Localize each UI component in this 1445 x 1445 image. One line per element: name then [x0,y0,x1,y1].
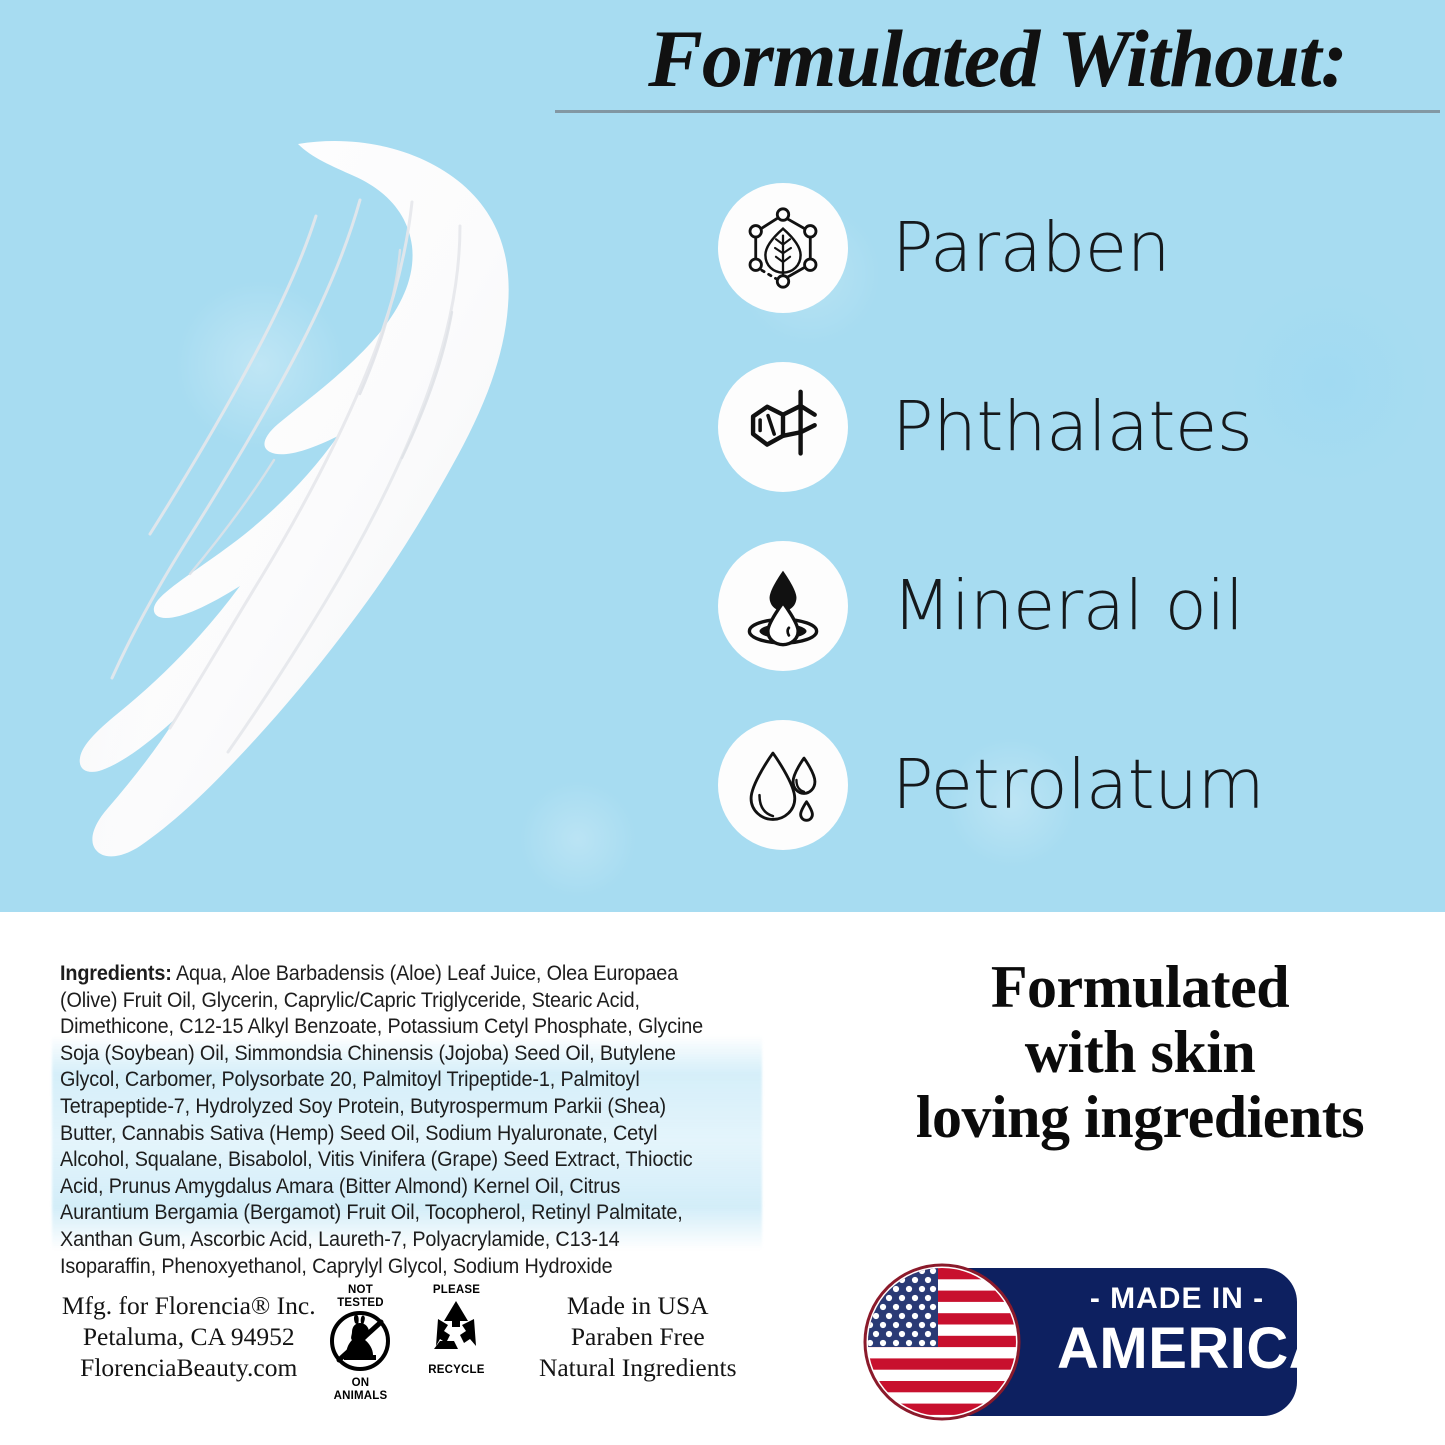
america-label: AMERICA [1057,1318,1297,1380]
ingredients-text: Ingredients: Aqua, Aloe Barbadensis (Alo… [60,960,711,1279]
free-from-row-petrolatum: Petrolatum [718,695,1438,874]
free-from-label: Paraben [892,210,1170,286]
skin-loving-headline: Formulated with skin loving ingredients [845,955,1435,1150]
benzene-ring-icon [718,362,848,492]
title-divider [555,110,1440,113]
oil-droplet-puddle-icon [718,541,848,671]
recycle-top-label: PLEASE [419,1284,493,1297]
molecule-leaf-icon [718,183,848,313]
skin-headline-line-2: with skin [845,1020,1435,1085]
made-in-america-badge: - MADE IN - AMERICA [862,1262,1297,1422]
no-animal-testing-icon [324,1310,396,1372]
certification-icons: NOT TESTED ON ANIMALS PLEASE [323,1282,493,1403]
claim-paraben-free: Paraben Free [515,1321,760,1352]
page-title: Formulated Without: [555,14,1440,113]
usa-flag-icon [862,1262,1022,1422]
made-in-america-text: - MADE IN - AMERICA [1057,1280,1297,1380]
recycle-icon [420,1297,492,1359]
cruelty-free-top-label: NOT TESTED [323,1284,397,1310]
cruelty-free-bottom-label: ON ANIMALS [323,1377,397,1403]
recycle-bottom-label: RECYCLE [419,1364,493,1377]
ingredients-block: Ingredients: Aqua, Aloe Barbadensis (Alo… [60,960,760,1279]
footer-row: Mfg. for Florencia® Inc. Petaluma, CA 94… [60,1282,760,1392]
page-title-text: Formulated Without: [555,14,1440,104]
claims-block: Made in USA Paraben Free Natural Ingredi… [515,1282,760,1383]
skin-headline-line-1: Formulated [845,955,1435,1020]
free-from-row-paraben: Paraben [718,158,1438,337]
manufacturer-line-1: Mfg. for Florencia® Inc. [60,1290,317,1321]
cream-swatch-image [60,130,540,860]
water-droplets-icon [718,720,848,850]
free-from-label: Petrolatum [892,747,1264,823]
claim-made-in-usa: Made in USA [515,1290,760,1321]
cruelty-free-cert: NOT TESTED ON ANIMALS [323,1284,397,1403]
claim-natural-ingredients: Natural Ingredients [515,1352,760,1383]
made-in-label: - MADE IN - [1057,1280,1297,1318]
manufacturer-block: Mfg. for Florencia® Inc. Petaluma, CA 94… [60,1282,317,1383]
manufacturer-website[interactable]: FlorenciaBeauty.com [60,1352,317,1383]
free-from-row-phthalates: Phthalates [718,337,1438,516]
recycle-cert: PLEASE RECYCLE [419,1284,493,1403]
ingredients-label: Ingredients: [60,961,172,985]
formulated-without-list: Paraben Phthalates [718,158,1438,874]
free-from-row-mineral-oil: Mineral oil [718,516,1438,695]
skin-headline-line-3: loving ingredients [845,1085,1435,1150]
manufacturer-line-2: Petaluma, CA 94952 [60,1321,317,1352]
free-from-label: Mineral oil [892,568,1244,644]
free-from-label: Phthalates [892,389,1252,465]
ingredients-body: Aqua, Aloe Barbadensis (Aloe) Leaf Juice… [60,961,703,1278]
